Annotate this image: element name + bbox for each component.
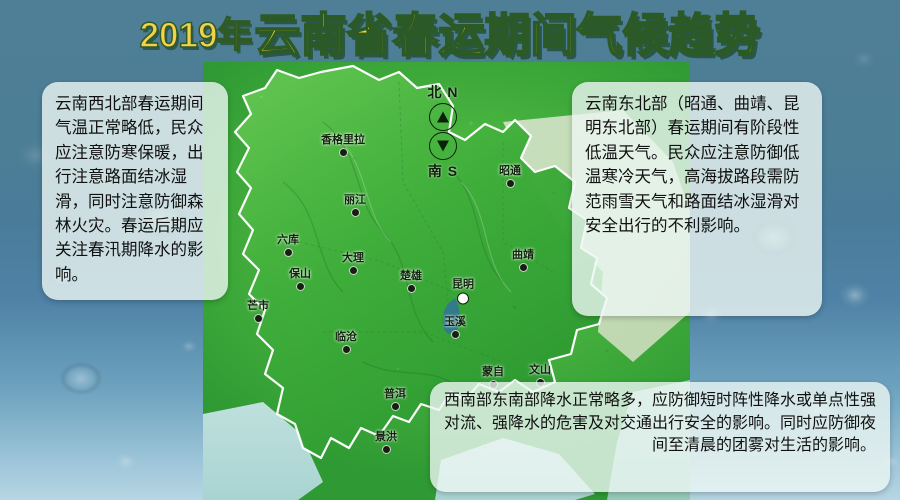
city-dot-icon — [296, 282, 305, 291]
city-dot-icon — [519, 263, 528, 272]
city-dot-icon — [284, 248, 293, 257]
city-label: 玉溪 — [444, 313, 466, 329]
city-marker: 芒市 — [247, 297, 269, 323]
panel-northwest-forecast: 云南西北部春运期间气温正常略低，民众应注意防寒保暖，出行注意路面结冰湿滑，同时注… — [42, 82, 228, 300]
city-marker: 玉溪 — [444, 313, 466, 339]
city-dot-icon — [391, 402, 400, 411]
city-dot-icon — [349, 266, 358, 275]
city-label: 普洱 — [384, 385, 406, 401]
city-label: 大理 — [342, 249, 364, 265]
city-marker: 曲靖 — [512, 246, 534, 272]
city-marker: 景洪 — [375, 428, 397, 454]
city-label: 昭通 — [499, 162, 521, 178]
city-marker: 昭通 — [499, 162, 521, 188]
city-label: 保山 — [289, 265, 311, 281]
city-marker: 楚雄 — [400, 267, 422, 293]
city-dot-icon — [382, 445, 391, 454]
city-marker: 六库 — [277, 231, 299, 257]
city-label: 曲靖 — [512, 246, 534, 262]
city-label: 芒市 — [247, 297, 269, 313]
city-dot-icon — [254, 314, 263, 323]
city-marker: 保山 — [289, 265, 311, 291]
compass-north-label: 北 N — [412, 82, 474, 102]
city-label: 丽江 — [344, 191, 366, 207]
city-marker: 丽江 — [344, 191, 366, 217]
city-label: 蒙自 — [482, 363, 504, 379]
panel-southwest-southeast-forecast: 西南部东南部降水正常略多，应防御短时阵性降水或单点性强对流、强降水的危害及对交通… — [430, 382, 890, 492]
city-marker: 香格里拉 — [321, 131, 365, 157]
city-dot-icon — [451, 330, 460, 339]
city-label: 临沧 — [335, 328, 357, 344]
city-marker: 昆明 — [452, 276, 474, 305]
arrow-up-icon — [429, 103, 457, 131]
city-label: 楚雄 — [400, 267, 422, 283]
arrow-down-icon — [429, 132, 457, 160]
city-label: 文山 — [529, 361, 551, 377]
city-dot-icon — [339, 148, 348, 157]
city-dot-icon — [342, 345, 351, 354]
city-dot-icon — [407, 284, 416, 293]
city-marker: 普洱 — [384, 385, 406, 411]
panel-northeast-forecast: 云南东北部（昭通、曲靖、昆明东北部）春运期间有阶段性低温天气。民众应注意防御低温… — [572, 82, 822, 316]
compass-rose: 北 N 南 S — [412, 82, 474, 190]
city-label: 昆明 — [452, 276, 474, 292]
city-dot-icon — [457, 293, 469, 305]
title-year: 2019年 — [140, 18, 253, 53]
compass-south-label: 南 S — [412, 161, 474, 181]
city-label: 香格里拉 — [321, 131, 365, 147]
city-marker: 临沧 — [335, 328, 357, 354]
city-label: 景洪 — [375, 428, 397, 444]
title-main: 云南省春运期间气候趋势 — [254, 12, 760, 58]
city-label: 六库 — [277, 231, 299, 247]
page-title: 2019年 云南省春运期间气候趋势 — [0, 6, 900, 64]
city-marker: 大理 — [342, 249, 364, 275]
city-dot-icon — [506, 179, 515, 188]
infographic-canvas: 香格里拉丽江六库大理保山楚雄芒市昭通曲靖昆明玉溪临沧普洱景洪蒙自文山 北 N 南… — [0, 0, 900, 500]
city-dot-icon — [351, 208, 360, 217]
